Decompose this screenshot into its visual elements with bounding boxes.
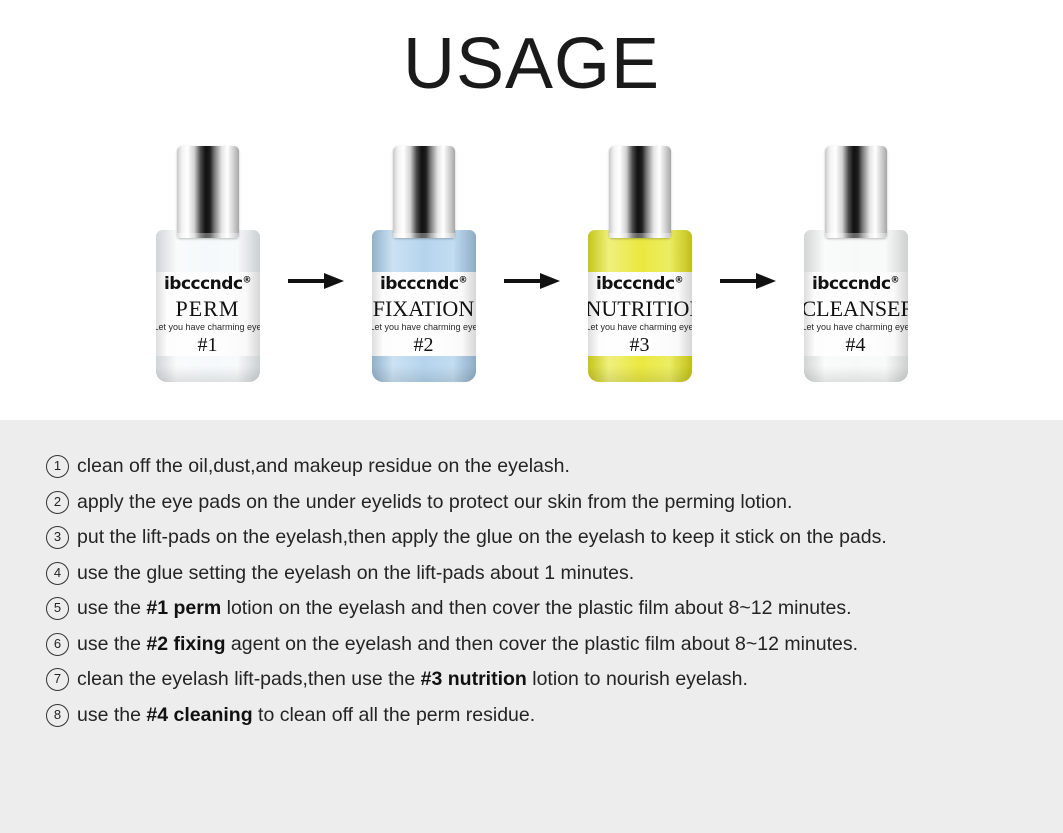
- product-tagline: Let you have charming eyes: [372, 322, 476, 332]
- step-number: 8: [46, 704, 69, 727]
- bottle-cap-icon: [825, 146, 887, 238]
- arrow-head: [324, 273, 344, 289]
- brand-name: ibcccndc®: [372, 274, 476, 294]
- instruction-row: 6use the #2 fixing agent on the eyelash …: [46, 632, 1035, 658]
- arrow-right-icon: [504, 271, 560, 291]
- bottle-row: ibcccndc® PERM Let you have charming eye…: [0, 140, 1063, 390]
- brand-text: ibcccndc: [596, 274, 675, 294]
- instruction-list: 1clean off the oil,dust,and makeup resid…: [46, 454, 1035, 738]
- instruction-row: 3put the lift-pads on the eyelash,then a…: [46, 525, 1035, 551]
- bottle-base-shade: [156, 366, 260, 382]
- step-text: clean the eyelash lift-pads,then use the…: [77, 667, 1035, 692]
- product-bottle-1: ibcccndc® PERM Let you have charming eye…: [156, 140, 260, 390]
- brand-name: ibcccndc®: [156, 274, 260, 294]
- registered-mark-icon: ®: [891, 275, 900, 285]
- step-number: 7: [46, 668, 69, 691]
- step-product-highlight: #1 perm: [146, 597, 221, 619]
- step-number: 3: [46, 526, 69, 549]
- product-tagline: Let you have charming eyes: [804, 322, 908, 332]
- product-bottle-2: ibcccndc® FIXATION Let you have charming…: [372, 140, 476, 390]
- instruction-row: 8use the #4 cleaning to clean off all th…: [46, 703, 1035, 729]
- page-title: USAGE: [0, 28, 1063, 100]
- brand-name: ibcccndc®: [804, 274, 908, 294]
- arrow-shaft: [720, 279, 760, 283]
- bottle-label: ibcccndc® CLEANSER Let you have charming…: [804, 272, 908, 356]
- instruction-row: 5use the #1 perm lotion on the eyelash a…: [46, 596, 1035, 622]
- instruction-row: 4use the glue setting the eyelash on the…: [46, 561, 1035, 587]
- bottle-body: ibcccndc® CLEANSER Let you have charming…: [804, 230, 908, 382]
- bottle-base-shade: [804, 366, 908, 382]
- step-text: use the #2 fixing agent on the eyelash a…: [77, 632, 1035, 657]
- registered-mark-icon: ®: [675, 275, 684, 285]
- step-number: 5: [46, 597, 69, 620]
- arrow-right-icon: [288, 271, 344, 291]
- step-number: 1: [46, 455, 69, 478]
- product-tagline: Let you have charming eyes: [588, 322, 692, 332]
- bottle-body: ibcccndc® PERM Let you have charming eye…: [156, 230, 260, 382]
- bottle-slot-2: ibcccndc® FIXATION Let you have charming…: [354, 140, 494, 390]
- bottle-cap-icon: [393, 146, 455, 238]
- bottle-body: ibcccndc® NUTRITION Let you have charmin…: [588, 230, 692, 382]
- product-bottle-4: ibcccndc® CLEANSER Let you have charming…: [804, 140, 908, 390]
- instruction-row: 1clean off the oil,dust,and makeup resid…: [46, 454, 1035, 480]
- brand-name: ibcccndc®: [588, 274, 692, 294]
- arrow-slot-2: [494, 140, 570, 390]
- arrow-right-icon: [720, 271, 776, 291]
- bottle-label: ibcccndc® PERM Let you have charming eye…: [156, 272, 260, 356]
- arrow-shaft: [288, 279, 328, 283]
- instruction-row: 2apply the eye pads on the under eyelids…: [46, 490, 1035, 516]
- product-serial: #3: [588, 334, 692, 356]
- brand-text: ibcccndc: [380, 274, 459, 294]
- instructions-panel: 1clean off the oil,dust,and makeup resid…: [0, 420, 1063, 833]
- arrow-slot-3: [710, 140, 786, 390]
- step-number: 6: [46, 633, 69, 656]
- product-name: FIXATION: [372, 296, 476, 322]
- brand-text: ibcccndc: [812, 274, 891, 294]
- arrow-shaft: [504, 279, 544, 283]
- step-product-highlight: #3 nutrition: [421, 668, 527, 690]
- bottle-slot-1: ibcccndc® PERM Let you have charming eye…: [138, 140, 278, 390]
- bottle-body: ibcccndc® FIXATION Let you have charming…: [372, 230, 476, 382]
- bottle-label: ibcccndc® NUTRITION Let you have charmin…: [588, 272, 692, 356]
- product-serial: #2: [372, 334, 476, 356]
- arrow-slot-1: [278, 140, 354, 390]
- product-name: CLEANSER: [804, 296, 908, 322]
- step-product-highlight: #2 fixing: [146, 633, 225, 655]
- step-text: use the glue setting the eyelash on the …: [77, 561, 1035, 586]
- bottle-base-shade: [372, 366, 476, 382]
- product-name: NUTRITION: [588, 296, 692, 322]
- bottle-label: ibcccndc® FIXATION Let you have charming…: [372, 272, 476, 356]
- step-number: 2: [46, 491, 69, 514]
- arrow-head: [756, 273, 776, 289]
- bottle-slot-4: ibcccndc® CLEANSER Let you have charming…: [786, 140, 926, 390]
- product-name: PERM: [156, 296, 260, 322]
- hero-section: USAGE ibcccndc® PERM Let you have charmi…: [0, 0, 1063, 420]
- step-text: clean off the oil,dust,and makeup residu…: [77, 454, 1035, 479]
- product-serial: #4: [804, 334, 908, 356]
- step-text: apply the eye pads on the under eyelids …: [77, 490, 1035, 515]
- step-number: 4: [46, 562, 69, 585]
- instruction-row: 7clean the eyelash lift-pads,then use th…: [46, 667, 1035, 693]
- step-text: use the #4 cleaning to clean off all the…: [77, 703, 1035, 728]
- bottle-slot-3: ibcccndc® NUTRITION Let you have charmin…: [570, 140, 710, 390]
- brand-text: ibcccndc: [164, 274, 243, 294]
- step-text: put the lift-pads on the eyelash,then ap…: [77, 525, 1035, 550]
- registered-mark-icon: ®: [459, 275, 468, 285]
- bottle-cap-icon: [609, 146, 671, 238]
- step-text: use the #1 perm lotion on the eyelash an…: [77, 596, 1035, 621]
- bottle-base-shade: [588, 366, 692, 382]
- registered-mark-icon: ®: [243, 275, 252, 285]
- step-product-highlight: #4 cleaning: [146, 704, 252, 726]
- bottle-cap-icon: [177, 146, 239, 238]
- arrow-head: [540, 273, 560, 289]
- product-tagline: Let you have charming eyes: [156, 322, 260, 332]
- product-bottle-3: ibcccndc® NUTRITION Let you have charmin…: [588, 140, 692, 390]
- product-serial: #1: [156, 334, 260, 356]
